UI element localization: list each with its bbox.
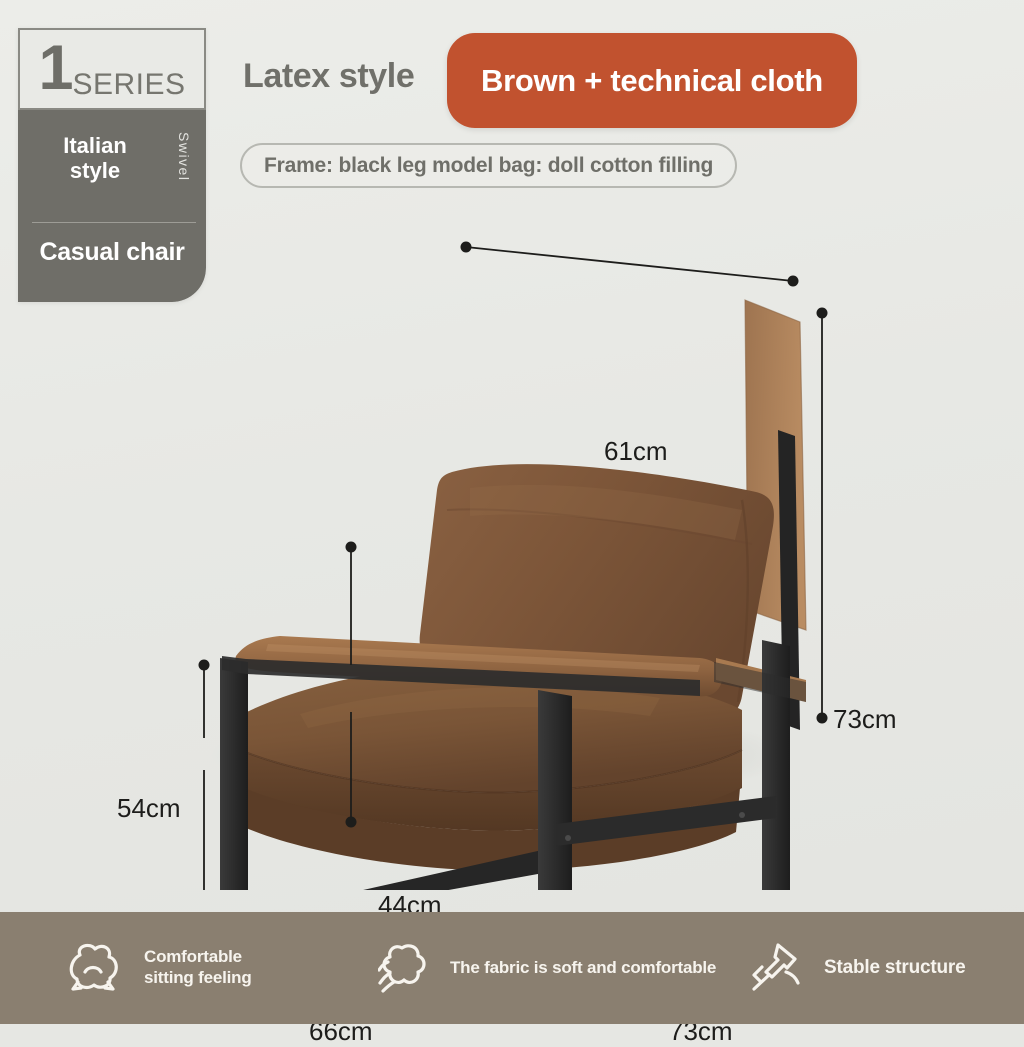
series-badge-header: 1 SERIES xyxy=(18,28,206,110)
product-infographic: 1 SERIES Italian style Swivel Casual cha… xyxy=(0,0,1024,1024)
frame-spec-label: Frame: black leg model bag: doll cotton … xyxy=(264,154,713,178)
hammer-icon xyxy=(748,942,806,994)
feature-label-comfort: Comfortable sitting feeling xyxy=(144,947,252,988)
chair-illustration: 61cm 73cm 54cm 44cm 66cm 73cm xyxy=(0,210,1024,890)
frame-left-front-post xyxy=(220,658,248,890)
series-word: SERIES xyxy=(73,68,186,108)
dim-line-61 xyxy=(466,247,793,281)
frame-bolt-2 xyxy=(565,835,571,841)
dimension-label-height-total: 73cm xyxy=(833,704,897,735)
dimension-label-height-back: 54cm xyxy=(117,793,181,824)
feature-item-structure: Stable structure xyxy=(748,912,965,1024)
italian-style-line2: style xyxy=(26,159,164,184)
dim-dot-61-a xyxy=(461,242,472,253)
feature-item-comfort: Comfortable sitting feeling xyxy=(62,912,252,1024)
italian-style-line1: Italian xyxy=(26,134,164,159)
dim-dot-61-b xyxy=(788,276,799,287)
feature-item-fabric: The fabric is soft and comfortable xyxy=(378,912,716,1024)
dimension-label-width-top: 61cm xyxy=(604,436,668,467)
brown-technical-cloth-badge: Brown + technical cloth xyxy=(447,33,857,128)
dim-dot-44-a xyxy=(346,542,357,553)
chair-drawing xyxy=(0,210,1024,890)
latex-style-title: Latex style xyxy=(243,57,414,96)
swivel-label: Swivel xyxy=(176,132,192,181)
feature-label-fabric: The fabric is soft and comfortable xyxy=(450,958,716,978)
italian-style-label: Italian style xyxy=(26,134,164,183)
series-number: 1 xyxy=(38,43,71,95)
brown-badge-label: Brown + technical cloth xyxy=(481,63,823,99)
feature-bar: Comfortable sitting feeling The fabric i… xyxy=(0,912,1024,1024)
dim-dot-73h-b xyxy=(817,713,828,724)
feature-comfort-line1: Comfortable xyxy=(144,947,252,968)
dim-dot-73h-a xyxy=(817,308,828,319)
frame-bolt-1 xyxy=(739,812,745,818)
frame-center-front-post xyxy=(538,690,572,890)
cushion-smile-icon xyxy=(62,940,124,996)
dim-dot-44-b xyxy=(346,817,357,828)
feature-comfort-line2: sitting feeling xyxy=(144,968,252,989)
dim-dot-54-a xyxy=(199,660,210,671)
cloud-wind-icon xyxy=(378,942,436,994)
feature-label-structure: Stable structure xyxy=(824,957,965,979)
frame-spec-pill: Frame: black leg model bag: doll cotton … xyxy=(240,143,737,188)
